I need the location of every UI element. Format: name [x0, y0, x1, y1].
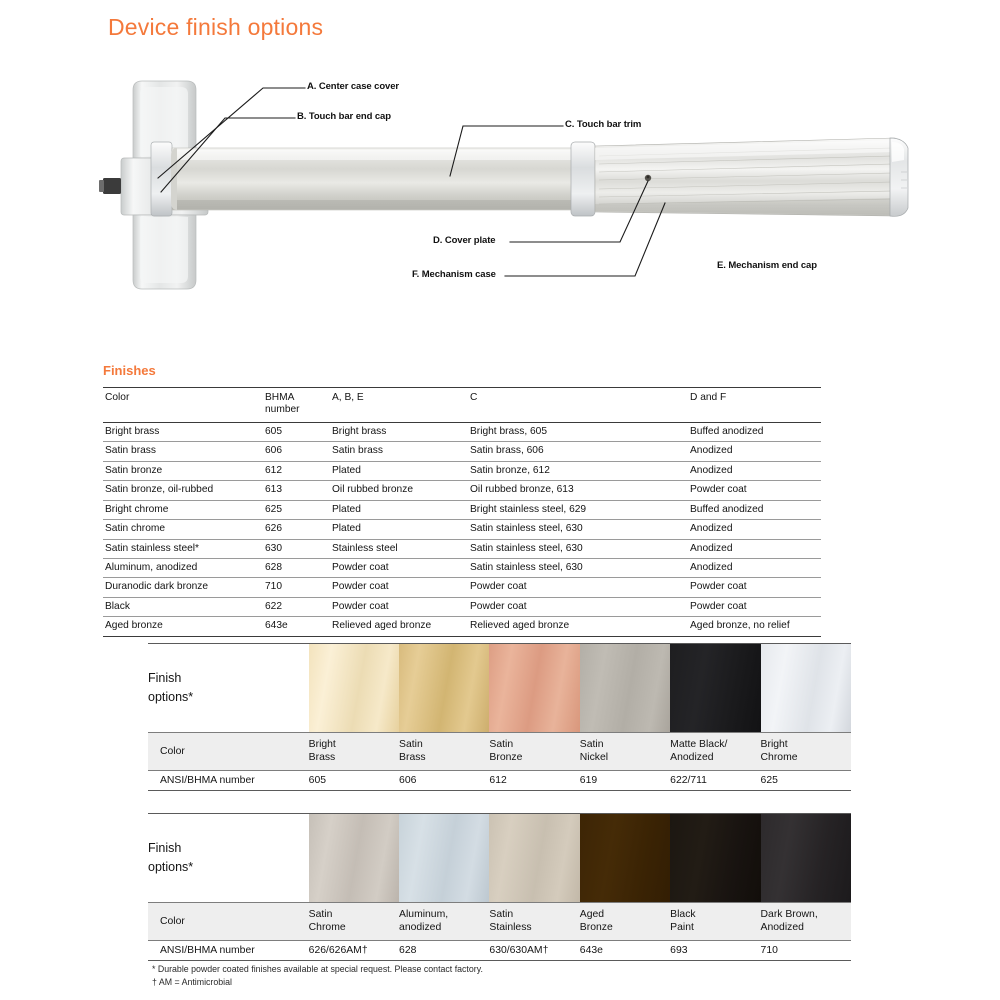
- swatch-number-bright-brass: 605: [309, 771, 399, 791]
- swatch-number-satin-brass: 606: [399, 771, 489, 791]
- cell-df: Buffed anodized: [690, 500, 821, 519]
- cell-df: Buffed anodized: [690, 422, 821, 441]
- finishes-table-body: Bright brass 605 Bright brass Bright bra…: [103, 422, 821, 636]
- swatch-number-row: ANSI/BHMA number 605 606 612 619 622/711…: [148, 771, 851, 791]
- cell-abe: Powder coat: [332, 578, 470, 597]
- swatch-name-line1: Matte Black/: [670, 739, 727, 750]
- cell-c: Relieved aged bronze: [470, 617, 690, 636]
- swatch-label-line1: Finish: [148, 671, 181, 685]
- cover-plate-screw-slot: [647, 176, 650, 179]
- swatch-number-black-paint: 693: [670, 941, 760, 961]
- callout-label-a: A. Center case cover: [307, 81, 399, 92]
- cell-bhma: 643e: [265, 617, 332, 636]
- cell-df: Anodized: [690, 461, 821, 480]
- swatch-chip-aluminum-anodized: [399, 814, 489, 903]
- swatch-number-bright-chrome: 625: [761, 771, 851, 791]
- swatch-name-row: Color Satin Chrome Aluminum, anodized Sa…: [148, 903, 851, 941]
- swatch-table-label: Finish options*: [148, 644, 309, 733]
- swatch-name-line1: Aluminum,: [399, 909, 448, 920]
- swatch-chip-row: Finish options*: [148, 814, 851, 903]
- cell-c: Satin brass, 606: [470, 442, 690, 461]
- swatch-name-line1: Satin: [580, 739, 604, 750]
- cell-abe: Bright brass: [332, 422, 470, 441]
- swatch-name-line2: Bronze: [489, 752, 522, 763]
- swatch-label-line2: options*: [148, 860, 193, 874]
- swatch-name-satin-nickel: Satin Nickel: [580, 733, 670, 771]
- swatch-label-line1: Finish: [148, 841, 181, 855]
- swatch-name-aged-bronze: Aged Bronze: [580, 903, 670, 941]
- cell-abe: Plated: [332, 500, 470, 519]
- swatch-name-satin-bronze: Satin Bronze: [489, 733, 579, 771]
- callout-label-d: D. Cover plate: [433, 235, 495, 246]
- swatch-color-fill: [580, 814, 670, 902]
- cell-color: Satin bronze: [103, 461, 265, 480]
- cell-bhma: 710: [265, 578, 332, 597]
- swatch-name-black-paint: Black Paint: [670, 903, 760, 941]
- swatch-color-fill: [761, 644, 851, 732]
- swatch-row-header-color: Color: [148, 903, 309, 941]
- cell-c: Powder coat: [470, 597, 690, 616]
- swatch-chip-aged-bronze: [580, 814, 670, 903]
- cell-c: Powder coat: [470, 578, 690, 597]
- swatch-number-aluminum-anodized: 628: [399, 941, 489, 961]
- finishes-header-row: Color BHMAnumber A, B, E C D and F: [103, 388, 821, 423]
- swatch-number-dark-brown-anodized: 710: [761, 941, 851, 961]
- table-row: Bright chrome 625 Plated Bright stainles…: [103, 500, 821, 519]
- swatch-name-bright-brass: Bright Brass: [309, 733, 399, 771]
- cell-color: Aluminum, anodized: [103, 558, 265, 577]
- footnote-asterisk: * Durable powder coated finishes availab…: [152, 963, 483, 976]
- page-title: Device finish options: [108, 14, 323, 41]
- swatch-name-line2: Paint: [670, 922, 694, 933]
- cell-bhma: 606: [265, 442, 332, 461]
- swatch-color-fill: [670, 814, 760, 902]
- table-row: Black 622 Powder coat Powder coat Powder…: [103, 597, 821, 616]
- swatch-name-matte-black: Matte Black/ Anodized: [670, 733, 760, 771]
- swatch-row-header-number: ANSI/BHMA number: [148, 941, 309, 961]
- swatch-name-line1: Bright: [309, 739, 336, 750]
- cell-color: Satin brass: [103, 442, 265, 461]
- swatch-name-line2: Brass: [309, 752, 336, 763]
- cell-df: Powder coat: [690, 578, 821, 597]
- table-row: Aged bronze 643e Relieved aged bronze Re…: [103, 617, 821, 636]
- finishes-table-head: Color BHMAnumber A, B, E C D and F: [103, 388, 821, 423]
- cell-df: Powder coat: [690, 597, 821, 616]
- cell-c: Satin stainless steel, 630: [470, 520, 690, 539]
- col-header-abe: A, B, E: [332, 388, 470, 423]
- cell-c: Bright stainless steel, 629: [470, 500, 690, 519]
- swatch-color-fill: [670, 644, 760, 732]
- swatch-name-bright-chrome: Bright Chrome: [761, 733, 851, 771]
- swatch-name-satin-brass: Satin Brass: [399, 733, 489, 771]
- cell-color: Black: [103, 597, 265, 616]
- table-row: Duranodic dark bronze 710 Powder coat Po…: [103, 578, 821, 597]
- cell-bhma: 613: [265, 481, 332, 500]
- cell-df: Anodized: [690, 520, 821, 539]
- swatch-name-line2: Stainless: [489, 922, 531, 933]
- swatch-name-line2: Bronze: [580, 922, 613, 933]
- callout-label-f: F. Mechanism case: [412, 269, 496, 280]
- cell-c: Bright brass, 605: [470, 422, 690, 441]
- swatch-name-line1: Satin: [309, 909, 333, 920]
- footnotes: * Durable powder coated finishes availab…: [152, 963, 483, 989]
- cell-abe: Powder coat: [332, 597, 470, 616]
- table-row: Satin bronze 612 Plated Satin bronze, 61…: [103, 461, 821, 480]
- cell-bhma: 630: [265, 539, 332, 558]
- cell-c: Satin stainless steel, 630: [470, 558, 690, 577]
- swatch-chip-matte-black: [670, 644, 760, 733]
- exit-device-illustration: [95, 68, 925, 318]
- cell-df: Anodized: [690, 442, 821, 461]
- swatch-chip-satin-nickel: [580, 644, 670, 733]
- swatch-chip-satin-bronze: [489, 644, 579, 733]
- swatch-chip-satin-chrome: [309, 814, 399, 903]
- swatch-name-line1: Satin: [489, 739, 513, 750]
- table-row: Bright brass 605 Bright brass Bright bra…: [103, 422, 821, 441]
- swatch-name-line1: Bright: [761, 739, 788, 750]
- cell-bhma: 628: [265, 558, 332, 577]
- swatch-name-row: Color Bright Brass Satin Brass Satin Bro…: [148, 733, 851, 771]
- device-diagram: A. Center case cover B. Touch bar end ca…: [95, 68, 925, 318]
- swatch-name-line1: Satin: [399, 739, 423, 750]
- cell-abe: Relieved aged bronze: [332, 617, 470, 636]
- finishes-section-heading: Finishes: [103, 363, 156, 378]
- swatch-number-satin-chrome: 626/626AM†: [309, 941, 399, 961]
- swatch-table-label: Finish options*: [148, 814, 309, 903]
- cell-abe: Satin brass: [332, 442, 470, 461]
- swatch-name-line2: Chrome: [309, 922, 346, 933]
- cell-color: Bright brass: [103, 422, 265, 441]
- cell-abe: Oil rubbed bronze: [332, 481, 470, 500]
- cell-c: Satin bronze, 612: [470, 461, 690, 480]
- swatch-number-row: ANSI/BHMA number 626/626AM† 628 630/630A…: [148, 941, 851, 961]
- cell-df: Aged bronze, no relief: [690, 617, 821, 636]
- touch-bar-end-cap: [151, 142, 172, 216]
- callout-label-e: E. Mechanism end cap: [717, 260, 817, 271]
- cell-c: Oil rubbed bronze, 613: [470, 481, 690, 500]
- swatch-name-dark-brown-anodized: Dark Brown, Anodized: [761, 903, 851, 941]
- cell-df: Anodized: [690, 539, 821, 558]
- table-row: Satin bronze, oil-rubbed 613 Oil rubbed …: [103, 481, 821, 500]
- touch-bar-collar: [571, 142, 595, 216]
- swatch-chip-satin-stainless: [489, 814, 579, 903]
- cell-c: Satin stainless steel, 630: [470, 539, 690, 558]
- touch-bar-highlight: [172, 150, 575, 160]
- swatch-number-satin-nickel: 619: [580, 771, 670, 791]
- cell-bhma: 612: [265, 461, 332, 480]
- swatch-row-header-color: Color: [148, 733, 309, 771]
- swatch-color-fill: [309, 644, 399, 732]
- swatch-name-line1: Aged: [580, 909, 604, 920]
- callout-label-b: B. Touch bar end cap: [297, 111, 391, 122]
- swatch-number-aged-bronze: 643e: [580, 941, 670, 961]
- swatch-color-fill: [489, 644, 579, 732]
- cell-color: Duranodic dark bronze: [103, 578, 265, 597]
- cell-abe: Stainless steel: [332, 539, 470, 558]
- swatch-name-line2: Brass: [399, 752, 426, 763]
- swatch-label-line2: options*: [148, 690, 193, 704]
- latch-bolt: [103, 178, 121, 194]
- swatch-color-fill: [309, 814, 399, 902]
- swatch-number-satin-stainless: 630/630AM†: [489, 941, 579, 961]
- swatch-chip-row: Finish options*: [148, 644, 851, 733]
- swatch-name-line1: Satin: [489, 909, 513, 920]
- finish-options-swatch-table-2: Finish options* Color Satin Chrome Alumi…: [148, 813, 851, 961]
- center-case-cover-lower: [140, 217, 188, 283]
- swatch-number-satin-bronze: 612: [489, 771, 579, 791]
- touch-bar-shadow: [172, 200, 575, 209]
- swatch-number-matte-black: 622/711: [670, 771, 760, 791]
- swatch-name-line2: Anodized: [761, 922, 804, 933]
- swatch-name-line2: Anodized: [670, 752, 713, 763]
- swatch-name-line2: anodized: [399, 922, 441, 933]
- col-header-c: C: [470, 388, 690, 423]
- callout-label-c: C. Touch bar trim: [565, 119, 641, 130]
- cell-bhma: 622: [265, 597, 332, 616]
- swatch-name-satin-chrome: Satin Chrome: [309, 903, 399, 941]
- cell-color: Satin bronze, oil-rubbed: [103, 481, 265, 500]
- swatch-row-header-number: ANSI/BHMA number: [148, 771, 309, 791]
- col-header-df: D and F: [690, 388, 821, 423]
- table-row: Satin stainless steel* 630 Stainless ste…: [103, 539, 821, 558]
- swatch-name-line1: Black: [670, 909, 695, 920]
- col-header-color: Color: [103, 388, 265, 423]
- cell-bhma: 626: [265, 520, 332, 539]
- swatch-chip-dark-brown-anodized: [761, 814, 851, 903]
- cell-df: Powder coat: [690, 481, 821, 500]
- cell-abe: Plated: [332, 461, 470, 480]
- cell-color: Bright chrome: [103, 500, 265, 519]
- swatch-chip-satin-brass: [399, 644, 489, 733]
- swatch-name-aluminum-anodized: Aluminum, anodized: [399, 903, 489, 941]
- cell-bhma: 605: [265, 422, 332, 441]
- cell-color: Satin chrome: [103, 520, 265, 539]
- swatch-name-line2: Nickel: [580, 752, 608, 763]
- cell-color: Satin stainless steel*: [103, 539, 265, 558]
- table-row: Aluminum, anodized 628 Powder coat Satin…: [103, 558, 821, 577]
- swatch-color-fill: [761, 814, 851, 902]
- cell-abe: Plated: [332, 520, 470, 539]
- cell-color: Aged bronze: [103, 617, 265, 636]
- cell-bhma: 625: [265, 500, 332, 519]
- swatch-chip-black-paint: [670, 814, 760, 903]
- swatch-color-fill: [399, 644, 489, 732]
- swatch-chip-bright-chrome: [761, 644, 851, 733]
- footnote-dagger: † AM = Antimicrobial: [152, 976, 483, 989]
- swatch-color-fill: [580, 644, 670, 732]
- swatch-chip-bright-brass: [309, 644, 399, 733]
- cell-df: Anodized: [690, 558, 821, 577]
- swatch-color-fill: [399, 814, 489, 902]
- finish-options-swatch-table-1: Finish options* Color Bright Brass Satin: [148, 643, 851, 791]
- table-row: Satin chrome 626 Plated Satin stainless …: [103, 520, 821, 539]
- swatch-name-line1: Dark Brown,: [761, 909, 818, 920]
- swatch-color-fill: [489, 814, 579, 902]
- swatch-name-satin-stainless: Satin Stainless: [489, 903, 579, 941]
- swatch-name-line2: Chrome: [761, 752, 798, 763]
- table-row: Satin brass 606 Satin brass Satin brass,…: [103, 442, 821, 461]
- finishes-table: Color BHMAnumber A, B, E C D and F Brigh…: [103, 387, 821, 637]
- col-header-bhma: BHMAnumber: [265, 388, 332, 423]
- latch-bolt-tip: [99, 180, 104, 192]
- cell-abe: Powder coat: [332, 558, 470, 577]
